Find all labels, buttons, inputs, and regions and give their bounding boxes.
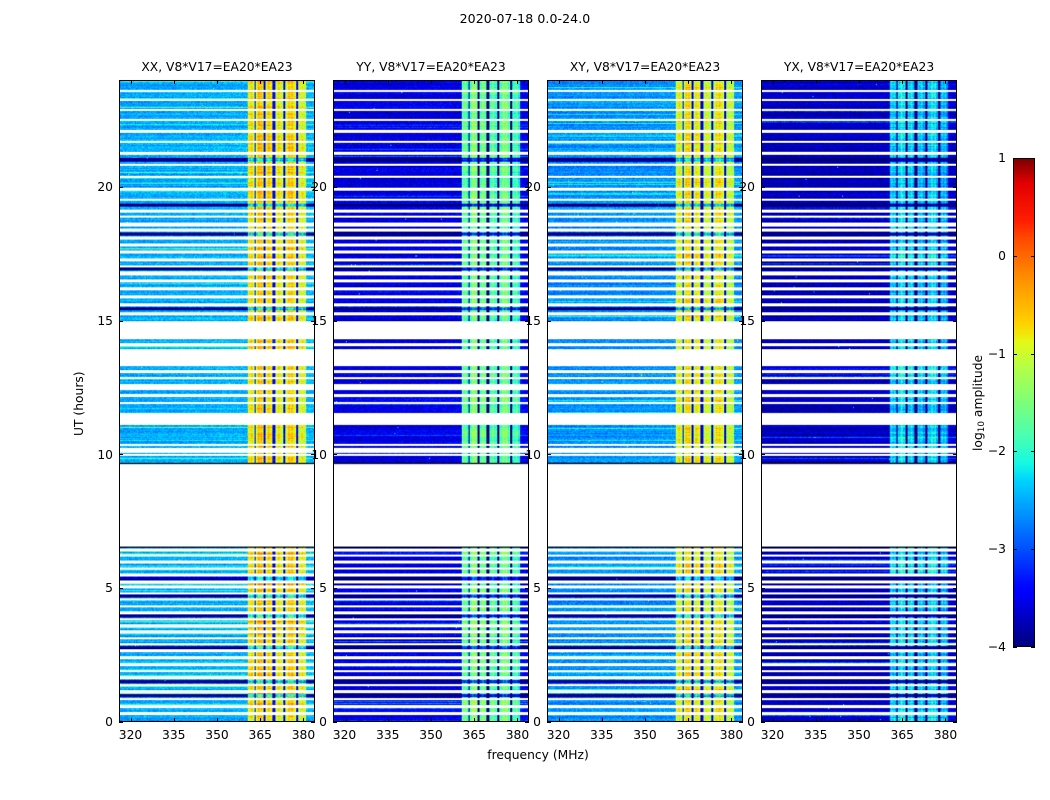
heatmap-panel-xx[interactable] xyxy=(119,80,315,722)
x-tick-label: 335 xyxy=(590,728,613,742)
x-tick-label: 320 xyxy=(119,728,142,742)
x-tick-label: 335 xyxy=(162,728,185,742)
x-axis-label: frequency (MHz) xyxy=(487,748,589,762)
y-tick-label: 15 xyxy=(81,314,113,328)
y-tick-label: 15 xyxy=(723,314,755,328)
y-tick-mark xyxy=(119,321,123,322)
x-tick-mark xyxy=(517,80,518,84)
colorbar-gradient xyxy=(1014,159,1034,646)
colorbar-tick-label: −2 xyxy=(973,444,1006,458)
y-tick-label: 10 xyxy=(295,448,327,462)
x-tick-mark xyxy=(174,718,175,722)
heatmap-image-xy xyxy=(548,81,742,721)
x-tick-mark xyxy=(431,718,432,722)
x-tick-mark xyxy=(902,718,903,722)
x-tick-mark xyxy=(260,718,261,722)
x-tick-mark xyxy=(345,80,346,84)
y-tick-label: 10 xyxy=(81,448,113,462)
x-tick-mark xyxy=(303,80,304,84)
y-tick-label: 5 xyxy=(295,581,327,595)
y-tick-label: 10 xyxy=(723,448,755,462)
y-tick-mark xyxy=(119,722,123,723)
y-tick-mark xyxy=(953,722,957,723)
figure-canvas: 2020-07-18 0.0-24.0 XX, V8*V17=EA20*EA23… xyxy=(0,0,1050,800)
y-tick-mark xyxy=(953,588,957,589)
y-tick-mark xyxy=(333,187,337,188)
x-tick-mark xyxy=(773,718,774,722)
colorbar-tick-label: −4 xyxy=(973,640,1006,654)
x-tick-mark xyxy=(645,718,646,722)
colorbar-tick-mark xyxy=(1013,549,1017,550)
colorbar-tick-mark xyxy=(1031,354,1035,355)
x-tick-label: 320 xyxy=(547,728,570,742)
x-tick-mark xyxy=(388,80,389,84)
heatmap-image-yx xyxy=(762,81,956,721)
y-tick-label: 0 xyxy=(81,715,113,729)
heatmap-panel-yx[interactable] xyxy=(761,80,957,722)
x-tick-mark xyxy=(602,80,603,84)
y-tick-label: 20 xyxy=(723,180,755,194)
y-tick-label: 0 xyxy=(509,715,541,729)
x-tick-mark xyxy=(345,718,346,722)
heatmap-panel-yy[interactable] xyxy=(333,80,529,722)
colorbar-tick-mark xyxy=(1031,647,1035,648)
x-tick-mark xyxy=(688,718,689,722)
y-tick-mark xyxy=(761,588,765,589)
colorbar-tick-mark xyxy=(1013,647,1017,648)
y-tick-mark xyxy=(547,321,551,322)
colorbar-label: log10 amplitude xyxy=(971,354,987,450)
colorbar-tick-mark xyxy=(1013,158,1017,159)
x-tick-label: 365 xyxy=(462,728,485,742)
x-tick-mark xyxy=(859,80,860,84)
x-tick-mark xyxy=(816,718,817,722)
x-tick-mark xyxy=(816,80,817,84)
y-tick-mark xyxy=(761,187,765,188)
x-tick-mark xyxy=(731,80,732,84)
colorbar[interactable] xyxy=(1013,158,1035,647)
x-tick-label: 365 xyxy=(676,728,699,742)
y-tick-mark xyxy=(333,454,337,455)
x-tick-mark xyxy=(388,718,389,722)
x-tick-label: 380 xyxy=(292,728,315,742)
x-tick-mark xyxy=(945,80,946,84)
x-tick-mark xyxy=(559,718,560,722)
colorbar-tick-label: −3 xyxy=(973,542,1006,556)
x-tick-mark xyxy=(474,718,475,722)
y-tick-mark xyxy=(761,321,765,322)
y-tick-label: 5 xyxy=(509,581,541,595)
x-tick-label: 380 xyxy=(720,728,743,742)
x-tick-label: 350 xyxy=(633,728,656,742)
y-tick-label: 5 xyxy=(81,581,113,595)
y-tick-label: 10 xyxy=(509,448,541,462)
x-tick-mark xyxy=(773,80,774,84)
x-tick-label: 380 xyxy=(934,728,957,742)
y-tick-mark xyxy=(953,454,957,455)
y-tick-mark xyxy=(333,588,337,589)
x-tick-label: 365 xyxy=(890,728,913,742)
x-tick-label: 350 xyxy=(847,728,870,742)
y-tick-label: 20 xyxy=(295,180,327,194)
x-tick-mark xyxy=(217,718,218,722)
y-tick-label: 20 xyxy=(81,180,113,194)
y-tick-mark xyxy=(547,722,551,723)
colorbar-tick-mark xyxy=(1013,354,1017,355)
colorbar-tick-label: 1 xyxy=(973,151,1006,165)
colorbar-label-subscript: 10 xyxy=(977,420,987,431)
x-tick-mark xyxy=(688,80,689,84)
y-tick-mark xyxy=(761,722,765,723)
y-tick-mark xyxy=(333,722,337,723)
y-tick-label: 15 xyxy=(295,314,327,328)
y-tick-mark xyxy=(761,454,765,455)
y-tick-label: 5 xyxy=(723,581,755,595)
y-tick-mark xyxy=(119,454,123,455)
x-tick-label: 350 xyxy=(419,728,442,742)
colorbar-tick-mark xyxy=(1013,256,1017,257)
colorbar-tick-label: 0 xyxy=(973,249,1006,263)
y-tick-label: 0 xyxy=(723,715,755,729)
x-tick-mark xyxy=(131,80,132,84)
x-tick-mark xyxy=(217,80,218,84)
x-tick-mark xyxy=(602,718,603,722)
colorbar-tick-mark xyxy=(1031,549,1035,550)
x-tick-mark xyxy=(645,80,646,84)
panel-title-xy: XY, V8*V17=EA20*EA23 xyxy=(547,60,743,74)
colorbar-tick-mark xyxy=(1013,451,1017,452)
x-tick-label: 380 xyxy=(506,728,529,742)
y-tick-label: 0 xyxy=(295,715,327,729)
x-tick-mark xyxy=(559,80,560,84)
y-tick-label: 15 xyxy=(509,314,541,328)
x-tick-mark xyxy=(859,718,860,722)
y-tick-mark xyxy=(119,187,123,188)
colorbar-label-suffix: amplitude xyxy=(971,354,985,420)
figure-suptitle: 2020-07-18 0.0-24.0 xyxy=(0,11,1050,26)
x-tick-label: 320 xyxy=(761,728,784,742)
x-tick-mark xyxy=(474,80,475,84)
y-tick-mark xyxy=(953,321,957,322)
x-tick-mark xyxy=(174,80,175,84)
colorbar-tick-mark xyxy=(1031,451,1035,452)
x-tick-mark xyxy=(260,80,261,84)
x-tick-mark xyxy=(945,718,946,722)
panel-title-yy: YY, V8*V17=EA20*EA23 xyxy=(333,60,529,74)
y-tick-mark xyxy=(953,187,957,188)
colorbar-tick-mark xyxy=(1031,256,1035,257)
x-tick-label: 365 xyxy=(248,728,271,742)
panel-title-xx: XX, V8*V17=EA20*EA23 xyxy=(119,60,315,74)
x-tick-label: 350 xyxy=(205,728,228,742)
y-tick-mark xyxy=(547,187,551,188)
x-tick-label: 320 xyxy=(333,728,356,742)
x-tick-label: 335 xyxy=(376,728,399,742)
heatmap-panel-xy[interactable] xyxy=(547,80,743,722)
y-tick-mark xyxy=(119,588,123,589)
x-tick-mark xyxy=(431,80,432,84)
heatmap-image-yy xyxy=(334,81,528,721)
x-tick-label: 335 xyxy=(804,728,827,742)
panel-title-yx: YX, V8*V17=EA20*EA23 xyxy=(761,60,957,74)
x-tick-mark xyxy=(902,80,903,84)
colorbar-tick-label: −1 xyxy=(973,347,1006,361)
y-tick-label: 20 xyxy=(509,180,541,194)
colorbar-tick-mark xyxy=(1031,158,1035,159)
x-tick-mark xyxy=(131,718,132,722)
y-tick-mark xyxy=(333,321,337,322)
heatmap-image-xx xyxy=(120,81,314,721)
y-tick-mark xyxy=(547,454,551,455)
y-tick-mark xyxy=(547,588,551,589)
y-axis-label: UT (hours) xyxy=(72,371,86,436)
